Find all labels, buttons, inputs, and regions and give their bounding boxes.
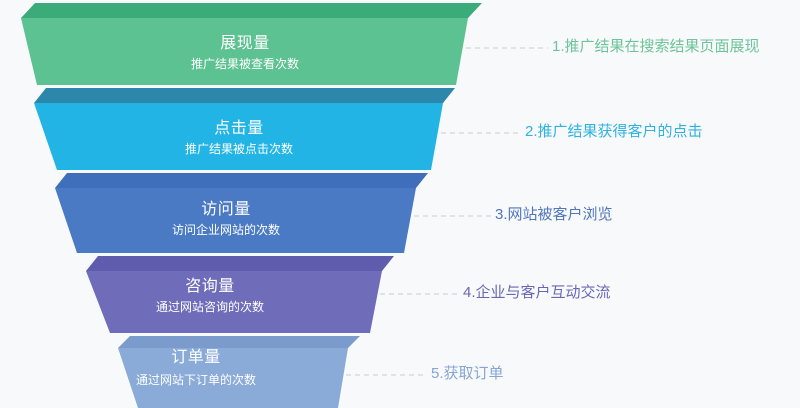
funnel-stage-5-subtitle: 通过网站下订单的次数 [0,372,392,388]
funnel-diagram: 展现量 推广结果被查看次数 1.推广结果在搜索结果页面展现 点击量 推广结果被点… [0,0,800,408]
funnel-stage-4-subtitle: 通过网站咨询的次数 [0,299,420,315]
funnel-stage-2-top [34,88,455,103]
funnel-stage-4-top [86,256,394,271]
funnel-stage-4-title: 咨询量 [0,277,420,297]
funnel-stage-2-subtitle: 推广结果被点击次数 [0,141,478,157]
funnel-stage-3-subtitle: 访问企业网站的次数 [0,222,452,238]
funnel-stage-3-body[interactable] [55,188,416,253]
funnel-stage-3-title: 访问量 [0,200,452,220]
funnel-label-2: 2.推广结果获得客户的点击 [525,123,703,141]
funnel-stage-5-top [118,336,360,348]
funnel-stage-1-top [21,3,482,18]
funnel-label-3: 3.网站被客户浏览 [495,206,613,224]
funnel-stage-2-title: 点击量 [0,119,478,139]
funnel-stage-1-subtitle: 推广结果被查看次数 [0,56,490,72]
funnel-stage-3-top [55,173,428,188]
funnel-label-4: 4.企业与客户互动交流 [463,284,611,302]
funnel-stage-1-title: 展现量 [0,34,490,54]
funnel-stage-5-title: 订单量 [0,348,392,368]
funnel-label-1: 1.推广结果在搜索结果页面展现 [552,38,760,56]
funnel-label-5: 5.获取订单 [431,365,504,383]
